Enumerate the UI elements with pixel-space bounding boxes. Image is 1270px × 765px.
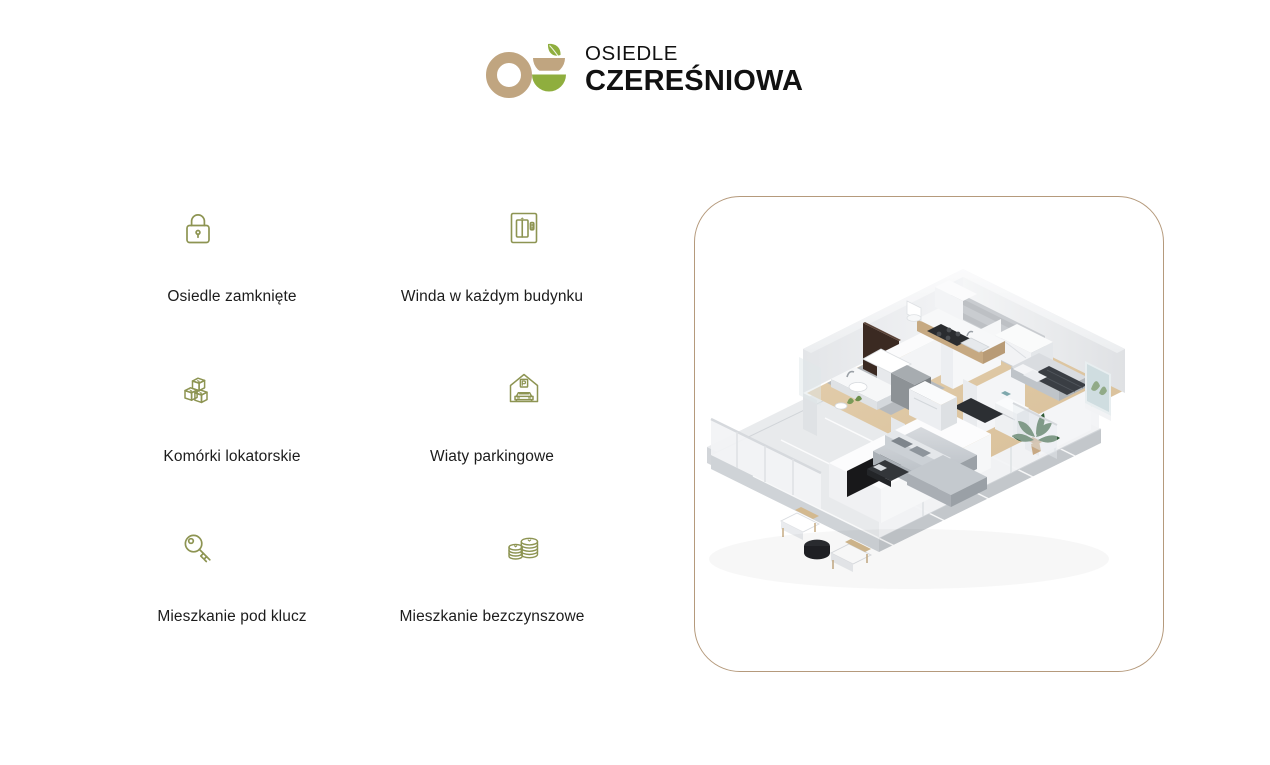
feature-item-komorki-lokatorskie[interactable]: Komórki lokatorskie xyxy=(108,366,356,526)
feature-label: Mieszkanie pod klucz xyxy=(108,608,356,626)
key-icon xyxy=(176,526,220,570)
feature-item-wiaty-parkingowe[interactable]: Wiaty parkingowe xyxy=(356,366,628,526)
elevator-icon xyxy=(502,206,546,250)
feature-label: Komórki lokatorskie xyxy=(108,448,356,466)
storage-boxes-icon xyxy=(176,366,220,410)
apartment-3d-floor-plan xyxy=(695,197,1163,671)
page-root: OSIEDLE CZEREŚNIOWA Osiedle zamknięte xyxy=(0,0,1270,765)
feature-item-osiedle-zamkniete[interactable]: Osiedle zamknięte xyxy=(108,206,356,366)
feature-label: Wiaty parkingowe xyxy=(356,448,628,466)
feature-label: Winda w każdym budynku xyxy=(356,288,628,306)
padlock-icon xyxy=(176,206,220,250)
feature-grid: Osiedle zamknięte Winda w każdym budynku xyxy=(108,206,628,686)
feature-label: Osiedle zamknięte xyxy=(108,288,356,306)
feature-label: Mieszkanie bezczynszowe xyxy=(356,608,628,626)
coins-icon xyxy=(502,526,546,570)
feature-item-mieszkanie-pod-klucz[interactable]: Mieszkanie pod klucz xyxy=(108,526,356,686)
feature-item-winda[interactable]: Winda w każdym budynku xyxy=(356,206,628,366)
feature-item-mieszkanie-bezczynszowe[interactable]: Mieszkanie bezczynszowe xyxy=(356,526,628,686)
brand-logo[interactable]: OSIEDLE CZEREŚNIOWA xyxy=(485,42,803,98)
brand-wordmark: OSIEDLE CZEREŚNIOWA xyxy=(585,42,803,96)
brand-line-2: CZEREŚNIOWA xyxy=(585,66,803,96)
brand-line-1: OSIEDLE xyxy=(585,43,803,65)
carport-icon xyxy=(502,366,546,410)
ring-and-sprout-logo-mark xyxy=(485,42,573,98)
floor-plan-card[interactable] xyxy=(694,196,1164,672)
